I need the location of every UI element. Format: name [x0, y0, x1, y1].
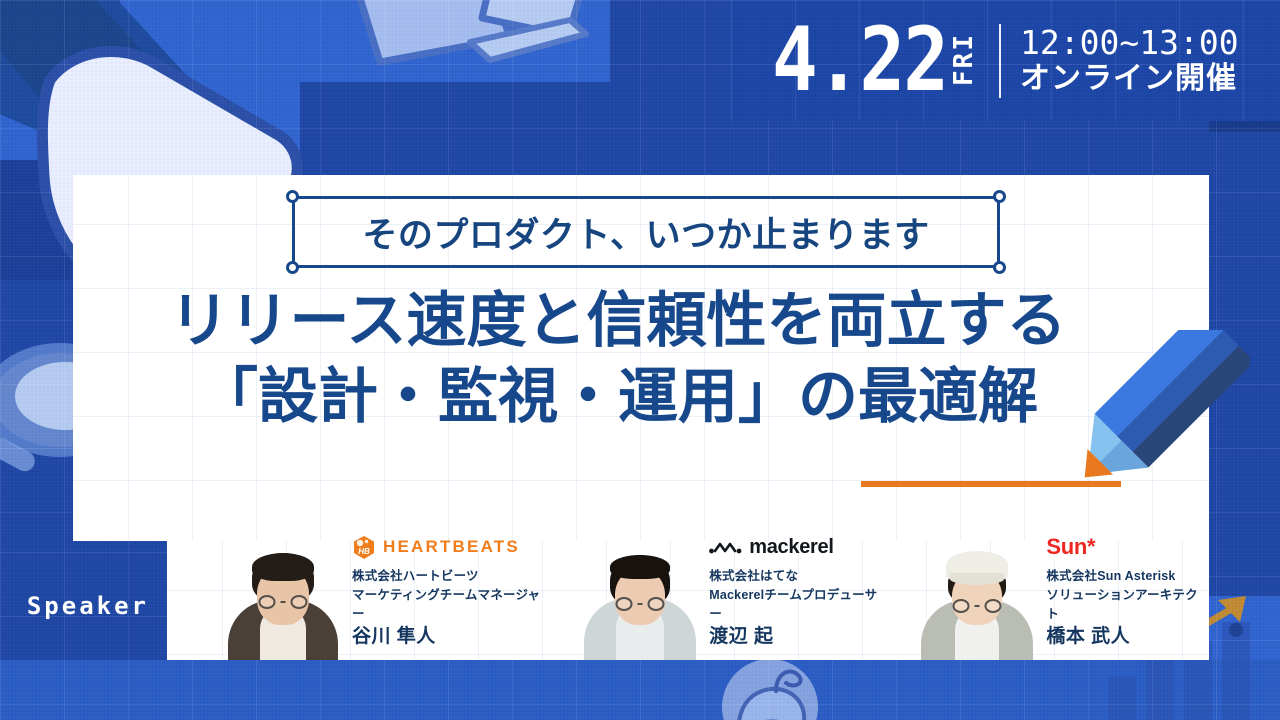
speaker-org: 株式会社ハートビーツ [352, 567, 551, 586]
speaker-photo [581, 541, 699, 660]
event-mode: オンライン開催 [1020, 63, 1239, 95]
event-time: 12:00~13:00 [1020, 25, 1239, 61]
main-title-line-2: 「設計・監視・運用」の最適解 [73, 364, 1163, 430]
date-divider [999, 24, 1001, 98]
banner-stage: 4.22 FRI 12:00~13:00 オンライン開催 そのプロダクト、いつか… [0, 0, 1280, 720]
bg-block-c [300, 0, 610, 82]
bg-block-b [0, 0, 120, 100]
title-underline [861, 481, 1121, 487]
event-date: 4.22 [772, 25, 947, 96]
speaker-role: Mackerelチームプロデューサー [709, 586, 888, 624]
speaker-logo: Sun* [1046, 534, 1209, 560]
bg-block-d [0, 160, 72, 280]
speaker-item: mackerel 株式会社はてな Mackerelチームプロデューサー 渡辺 起 [581, 541, 888, 660]
speaker-item: Sun* 株式会社Sun Asterisk ソリューションアーキテクト 橋本 武… [918, 541, 1209, 660]
bg-block-g [0, 660, 1280, 720]
avatar [918, 541, 1036, 660]
svg-text:HB: HB [358, 547, 370, 556]
speaker-role: マーケティングチームマネージャー [352, 586, 551, 624]
speaker-label: Speaker [27, 592, 167, 620]
speaker-photo [918, 541, 1036, 660]
event-dayofweek: FRI [951, 33, 977, 86]
speaker-list: HB HEARTBEATS 株式会社ハートビーツ マーケティングチームマネージャ… [167, 541, 1209, 660]
speaker-org: 株式会社はてな [709, 567, 888, 586]
main-title-line-1: リリース速度と信頼性を両立する [73, 288, 1163, 354]
speaker-name: 橋本 武人 [1046, 624, 1209, 650]
mackerel-logo-icon [709, 539, 743, 555]
speaker-name: 谷川 隼人 [352, 624, 551, 650]
speaker-name: 渡辺 起 [709, 624, 888, 650]
speaker-info: Sun* 株式会社Sun Asterisk ソリューションアーキテクト 橋本 武… [1036, 534, 1209, 660]
subtitle-text: そのプロダクト、いつか止まります [292, 196, 1000, 268]
avatar [581, 541, 699, 660]
speaker-logo: HB HEARTBEATS [352, 534, 551, 560]
speaker-org: 株式会社Sun Asterisk [1046, 567, 1209, 586]
speaker-item: HB HEARTBEATS 株式会社ハートビーツ マーケティングチームマネージャ… [224, 541, 551, 660]
speaker-logo: mackerel [709, 534, 888, 560]
speaker-info: mackerel 株式会社はてな Mackerelチームプロデューサー 渡辺 起 [699, 534, 888, 660]
heartbeats-logo-icon: HB [352, 535, 376, 560]
sun-asterisk-logo-text: Sun* [1046, 534, 1095, 560]
speaker-photo [224, 541, 342, 660]
subtitle-frame: そのプロダクト、いつか止まります [292, 196, 1000, 268]
speaker-info: HB HEARTBEATS 株式会社ハートビーツ マーケティングチームマネージャ… [342, 534, 551, 660]
heartbeats-logo-text: HEARTBEATS [383, 537, 520, 557]
mackerel-logo-text: mackerel [749, 536, 833, 559]
main-title: リリース速度と信頼性を両立する 「設計・監視・運用」の最適解 [73, 288, 1163, 430]
speaker-role: ソリューションアーキテクト [1046, 586, 1209, 624]
avatar [224, 541, 342, 660]
event-date-bar: 4.22 FRI 12:00~13:00 オンライン開催 [731, 0, 1280, 121]
speaker-label-block: Speaker [0, 552, 167, 660]
